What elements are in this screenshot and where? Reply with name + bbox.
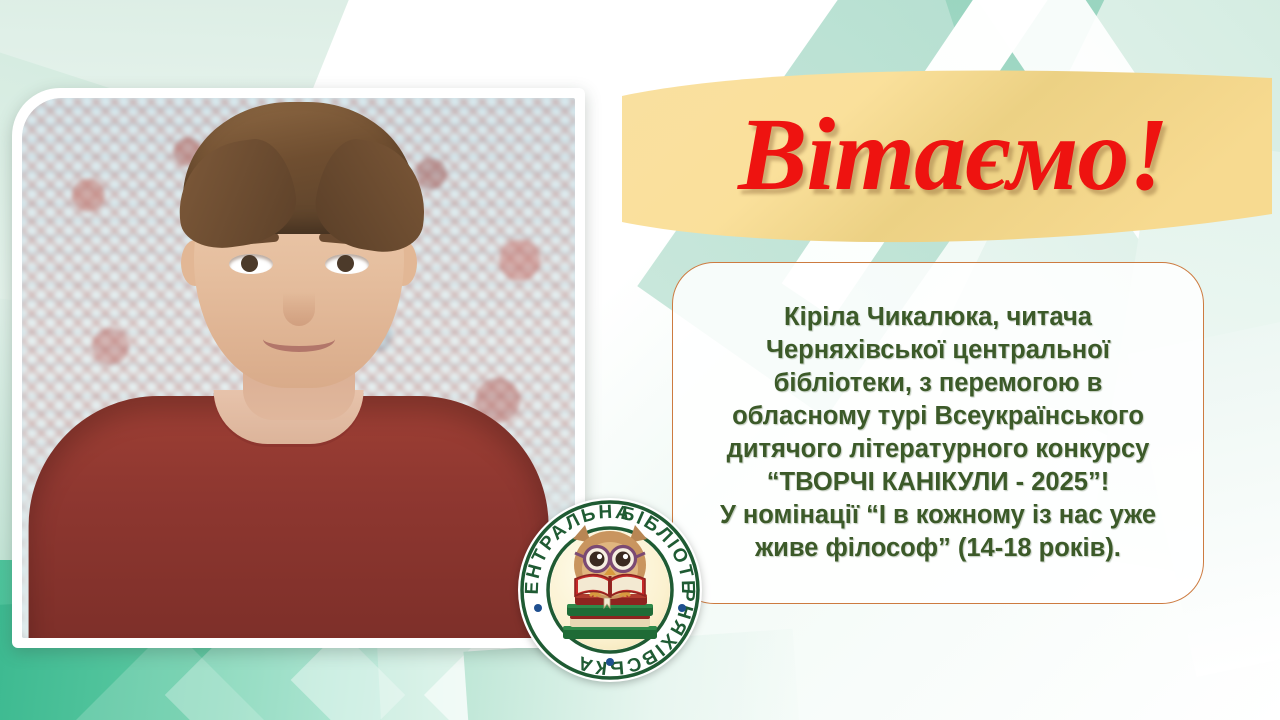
portrait-figure xyxy=(22,98,575,638)
emblem-graphic: ЦЕНТРАЛЬНА ЧЕРНЯХІВСЬКА БІБЛІОТЕКА xyxy=(515,495,705,685)
figure-pupil-right xyxy=(337,255,354,272)
message-line: бібліотеки, з перемогою в xyxy=(683,367,1193,400)
greeting-slide: Вітаємо! Кіріла Чикалюка, читачаЧерняхів… xyxy=(0,0,1280,720)
figure-mouth xyxy=(263,326,335,352)
message-line: дитячого літературного конкурсу xyxy=(683,433,1193,466)
message-line: Черняхівської центральної xyxy=(683,334,1193,367)
title-banner: Вітаємо! xyxy=(612,62,1280,252)
greeting-title: Вітаємо! xyxy=(612,62,1280,252)
portrait-photo xyxy=(22,98,575,638)
message-line: “ТВОРЧІ КАНІКУЛИ - 2025”! xyxy=(683,466,1193,499)
figure-pupil-left xyxy=(241,255,258,272)
emblem-dot-bottom xyxy=(606,658,614,666)
emblem-dot-left xyxy=(534,604,542,612)
message-text: Кіріла Чикалюка, читачаЧерняхівської цен… xyxy=(673,301,1203,564)
message-line: обласному турі Всеукраїнського xyxy=(683,400,1193,433)
message-line: У номінації “І в кожному із нас уже xyxy=(683,499,1193,532)
library-emblem-logo: ЦЕНТРАЛЬНА ЧЕРНЯХІВСЬКА БІБЛІОТЕКА xyxy=(515,495,705,685)
message-line: Кіріла Чикалюка, читача xyxy=(683,301,1193,334)
message-line: живе філософ” (14-18 років). xyxy=(683,532,1193,565)
photo-card xyxy=(12,88,585,648)
emblem-dot-right xyxy=(678,604,686,612)
message-box: Кіріла Чикалюка, читачаЧерняхівської цен… xyxy=(672,262,1204,604)
figure-shirt xyxy=(28,396,548,638)
figure-nose xyxy=(283,292,315,326)
